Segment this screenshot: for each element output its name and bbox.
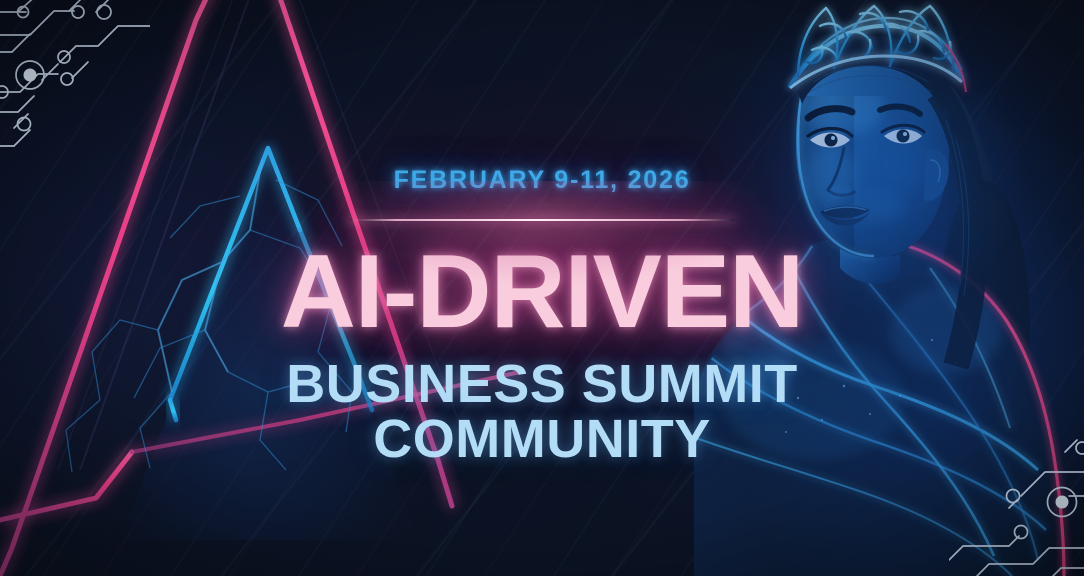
subtitle-line-2: COMMUNITY (0, 412, 1084, 467)
poster-canvas: FEBRUARY 9-11, 2026 AI-DRIVEN BUSINESS S… (0, 0, 1084, 576)
circuit-top-left (0, 0, 150, 150)
circuit-node-core (1056, 496, 1069, 509)
divider-wrap (0, 215, 1084, 227)
subtitle-line-1: BUSINESS SUMMIT (0, 357, 1084, 412)
divider-line (349, 219, 735, 221)
event-date: FEBRUARY 9-11, 2026 (0, 168, 1084, 193)
circuit-tl-svg (0, 0, 150, 150)
circuit-node-core (24, 69, 37, 82)
poster-copy: FEBRUARY 9-11, 2026 AI-DRIVEN BUSINESS S… (0, 168, 1084, 467)
page-title: AI-DRIVEN (0, 245, 1084, 341)
